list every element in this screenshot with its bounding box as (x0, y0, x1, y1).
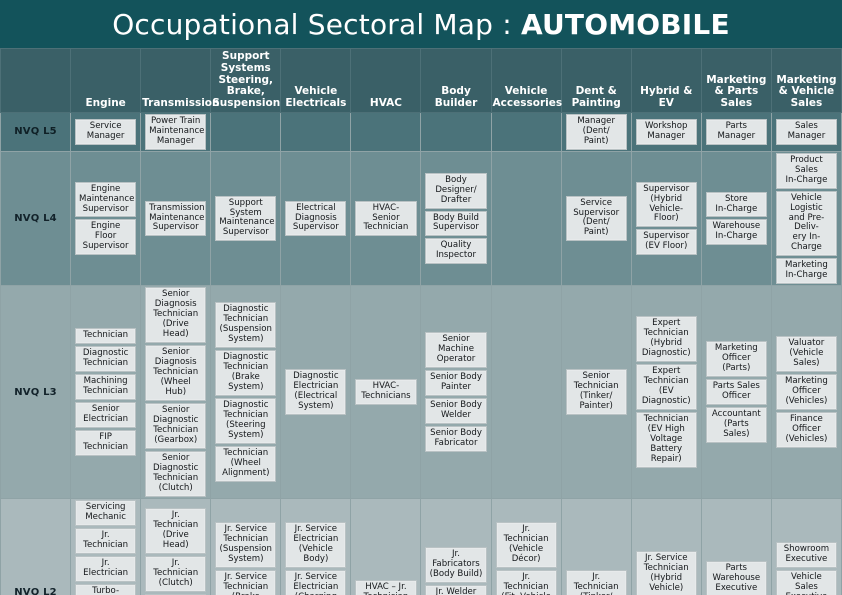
role-stack: Jr. Service Technician (Suspension Syste… (211, 499, 280, 595)
role-chip[interactable]: Diagnostic Technician (Suspension System… (215, 302, 276, 348)
role-stack: Jr. Service Technician (Hybrid Vehicle)J… (632, 499, 701, 595)
role-chip[interactable]: Marketing In-Charge (776, 258, 837, 284)
column-header-vehicle-accessories: Vehicle Accessories (491, 49, 561, 113)
role-stack: Product Sales In-ChargeVehicle Logistic … (772, 152, 841, 286)
role-chip[interactable]: Showroom Executive (776, 542, 837, 568)
cell-nvq-l5-col5 (351, 112, 421, 151)
table-header: EngineTransmissionSupport Systems Steeri… (1, 49, 842, 113)
role-stack: Store In-ChargeWarehouse In-Charge (702, 152, 771, 286)
role-chip[interactable]: Body Designer/ Drafter (425, 173, 486, 209)
role-chip[interactable]: Store In-Charge (706, 192, 767, 218)
cell-nvq-l3-col7 (491, 286, 561, 498)
cell-nvq-l3-col1: TechnicianDiagnostic TechnicianMachining… (71, 286, 141, 498)
cell-nvq-l2-col3: Jr. Service Technician (Suspension Syste… (211, 498, 281, 595)
table-body: NVQ L5Service ManagerPower Train Mainten… (1, 112, 842, 595)
role-chip[interactable]: Service Manager (75, 119, 136, 145)
role-stack: Servicing MechanicJr. TechnicianJr. Elec… (71, 499, 140, 595)
role-chip[interactable]: Finance Officer (Vehicles) (776, 412, 837, 448)
cell-nvq-l3-col9: Expert Technician (Hybrid Diagnostic)Exp… (631, 286, 701, 498)
cell-nvq-l5-col2: Power Train Maintenance Manager (141, 112, 211, 151)
cell-nvq-l5-col8: Manager (Dent/ Paint) (561, 112, 631, 151)
cell-nvq-l4-col6: Body Designer/ DrafterBody Build Supervi… (421, 151, 491, 286)
cell-nvq-l5-col3 (211, 112, 281, 151)
cell-nvq-l4-col8: Service Supervisor (Dent/ Paint) (561, 151, 631, 286)
cell-nvq-l3-col8: Senior Technician (Tinker/ Painter) (561, 286, 631, 498)
role-stack: Senior Technician (Tinker/ Painter) (562, 286, 631, 497)
role-chip[interactable]: Expert Technician (Hybrid Diagnostic) (636, 316, 697, 362)
role-chip[interactable]: Senior Machine Operator (425, 332, 486, 368)
role-chip[interactable]: Power Train Maintenance Manager (145, 114, 206, 150)
page-title-sector: AUTOMOBILE (521, 8, 730, 41)
cell-nvq-l3-col5: HVAC- Technicians (351, 286, 421, 498)
role-stack: Marketing Officer (Parts)Parts Sales Off… (702, 286, 771, 497)
cell-nvq-l4-col3: Support System Maintenance Supervisor (211, 151, 281, 286)
role-chip[interactable]: Engine Maintenance Supervisor (75, 182, 136, 218)
role-chip[interactable]: Jr. Service Electrician (Charging System… (285, 570, 346, 595)
cell-nvq-l3-col6: Senior Machine OperatorSenior Body Paint… (421, 286, 491, 498)
role-stack: Parts Warehouse ExecutiveParts Store Exe… (702, 499, 771, 595)
role-chip[interactable]: Transmission Maintenance Supervisor (145, 201, 206, 237)
role-stack: HVAC- Technicians (351, 286, 420, 497)
role-chip[interactable]: HVAC – Jr. Technician (355, 580, 416, 595)
role-chip[interactable]: Body Build Supervisor (425, 211, 486, 237)
level-label-nvq-l5: NVQ L5 (1, 112, 71, 151)
role-chip[interactable]: Diagnostic Electrician (Electrical Syste… (285, 369, 346, 415)
cell-nvq-l2-col7: Jr. Technician (Vehicle Décor)Jr. Techni… (491, 498, 561, 595)
cell-nvq-l4-col7 (491, 151, 561, 286)
role-stack (281, 113, 350, 151)
level-label-nvq-l3: NVQ L3 (1, 286, 71, 498)
role-chip[interactable]: Accountant (Parts Sales) (706, 407, 767, 443)
cell-nvq-l2-col4: Jr. Service Electrician (Vehicle Body)Jr… (281, 498, 351, 595)
role-chip[interactable]: Jr. Service Technician (Suspension Syste… (215, 522, 276, 568)
role-chip[interactable]: Senior Technician (Tinker/ Painter) (566, 369, 627, 415)
cell-nvq-l4-col10: Store In-ChargeWarehouse In-Charge (701, 151, 771, 286)
level-label-nvq-l2: NVQ L2 (1, 498, 71, 595)
role-chip[interactable]: Warehouse In-Charge (706, 219, 767, 245)
role-chip[interactable]: Supervisor (EV Floor) (636, 229, 697, 255)
cell-nvq-l4-col1: Engine Maintenance SupervisorEngine Floo… (71, 151, 141, 286)
role-chip[interactable]: Jr. Technician (Vehicle Décor) (496, 522, 557, 568)
role-chip[interactable]: Senior Body Painter (425, 370, 486, 396)
table-row: NVQ L2Servicing MechanicJr. TechnicianJr… (1, 498, 842, 595)
role-stack: Jr. Service Electrician (Vehicle Body)Jr… (281, 499, 350, 595)
cell-nvq-l3-col2: Senior Diagnosis Technician (Drive Head)… (141, 286, 211, 498)
role-chip[interactable]: Supervisor (Hybrid Vehicle- Floor) (636, 182, 697, 228)
role-stack (492, 113, 561, 151)
role-stack: Valuator (Vehicle Sales)Marketing Office… (772, 286, 841, 497)
role-chip[interactable]: Jr. Service Technician (Brake System) (215, 570, 276, 595)
role-chip[interactable]: Product Sales In-Charge (776, 153, 837, 189)
cell-nvq-l4-col5: HVAC- Senior Technician (351, 151, 421, 286)
role-chip[interactable]: Jr. Electrician (75, 556, 136, 582)
role-stack (351, 113, 420, 151)
role-stack: Workshop Manager (632, 113, 701, 151)
role-stack: Senior Diagnosis Technician (Drive Head)… (141, 286, 210, 497)
role-chip[interactable]: Engine Floor Supervisor (75, 219, 136, 255)
column-header-marketing-parts-sales: Marketing & Parts Sales (701, 49, 771, 113)
cell-nvq-l5-col7 (491, 112, 561, 151)
role-stack (492, 286, 561, 497)
role-chip[interactable]: Jr. Service Technician (Hybrid Vehicle) (636, 551, 697, 595)
role-chip[interactable]: Parts Manager (706, 119, 767, 145)
role-chip[interactable]: Senior Body Fabricator (425, 426, 486, 452)
cell-nvq-l2-col5: HVAC – Jr. Technician (351, 498, 421, 595)
role-chip[interactable]: Jr. Technician (Drive Head) (145, 508, 206, 554)
role-chip[interactable]: Expert Technician (EV Diagnostic) (636, 364, 697, 410)
cell-nvq-l3-col10: Marketing Officer (Parts)Parts Sales Off… (701, 286, 771, 498)
role-chip[interactable]: Servicing Mechanic (75, 500, 136, 526)
role-chip[interactable]: Technician (EV High Voltage Battery Repa… (636, 412, 697, 468)
role-chip[interactable]: Senior Diagnosis Technician (Wheel Hub) (145, 345, 206, 401)
role-stack: Power Train Maintenance Manager (141, 113, 210, 151)
role-chip[interactable]: Sales Manager (776, 119, 837, 145)
role-chip[interactable]: Marketing Officer (Vehicles) (776, 374, 837, 410)
role-chip[interactable]: Senior Diagnosis Technician (Drive Head) (145, 287, 206, 343)
role-chip[interactable]: Parts Warehouse Executive (706, 561, 767, 595)
role-stack: Diagnostic Electrician (Electrical Syste… (281, 286, 350, 497)
role-stack: Service Manager (71, 113, 140, 151)
role-chip[interactable]: Senior Diagnostic Technician (Clutch) (145, 451, 206, 497)
occupational-map-table: EngineTransmissionSupport Systems Steeri… (0, 48, 842, 595)
level-label-nvq-l4: NVQ L4 (1, 151, 71, 286)
cell-nvq-l2-col2: Jr. Technician (Drive Head)Jr. Technicia… (141, 498, 211, 595)
page-title: Occupational Sectoral Map : AUTOMOBILE (112, 8, 730, 41)
role-chip[interactable]: Jr. Technician (Fit. Vehicle Accessories… (496, 570, 557, 595)
cell-nvq-l2-col6: Jr. Fabricators (Body Build)Jr. Welder (… (421, 498, 491, 595)
role-stack: Expert Technician (Hybrid Diagnostic)Exp… (632, 286, 701, 497)
column-header-transmission: Transmission (141, 49, 211, 113)
role-chip[interactable]: Workshop Manager (636, 119, 697, 145)
page-title-prefix: Occupational Sectoral Map : (112, 8, 521, 41)
role-chip[interactable]: Marketing Officer (Parts) (706, 341, 767, 377)
cell-nvq-l2-col11: Showroom ExecutiveVehicle Sales Executiv… (771, 498, 841, 595)
table-row: NVQ L4Engine Maintenance SupervisorEngin… (1, 151, 842, 286)
role-stack: Electrical Diagnosis Supervisor (281, 152, 350, 286)
role-chip[interactable]: Parts Sales Officer (706, 379, 767, 405)
role-stack: Jr. Technician (Tinker/ Painter) (562, 499, 631, 595)
role-stack (421, 113, 490, 151)
role-chip[interactable]: Senior Diagnostic Technician (Gearbox) (145, 403, 206, 449)
cell-nvq-l4-col2: Transmission Maintenance Supervisor (141, 151, 211, 286)
cell-nvq-l5-col9: Workshop Manager (631, 112, 701, 151)
cell-nvq-l4-col4: Electrical Diagnosis Supervisor (281, 151, 351, 286)
role-chip[interactable]: Electrical Diagnosis Supervisor (285, 201, 346, 237)
role-chip[interactable]: Vehicle Sales Executive (776, 570, 837, 595)
title-bar: Occupational Sectoral Map : AUTOMOBILE (0, 0, 842, 48)
role-stack: Jr. Technician (Drive Head)Jr. Technicia… (141, 499, 210, 595)
role-stack: HVAC- Senior Technician (351, 152, 420, 286)
role-stack: Sales Manager (772, 113, 841, 151)
occupational-sectoral-map-page: Occupational Sectoral Map : AUTOMOBILE E… (0, 0, 842, 595)
role-chip[interactable]: FIP Technician (75, 430, 136, 456)
cell-nvq-l3-col4: Diagnostic Electrician (Electrical Syste… (281, 286, 351, 498)
column-header-marketing-vehicle-sales: Marketing & Vehicle Sales (771, 49, 841, 113)
role-stack: Transmission Maintenance Supervisor (141, 152, 210, 286)
role-stack: Body Designer/ DrafterBody Build Supervi… (421, 152, 490, 286)
role-chip[interactable]: Technician (Wheel Alignment) (215, 446, 276, 482)
role-chip[interactable]: Senior Body Welder (425, 398, 486, 424)
column-header-vehicle-electricals: Vehicle Electricals (281, 49, 351, 113)
role-stack: Support System Maintenance Supervisor (211, 152, 280, 286)
cell-nvq-l2-col10: Parts Warehouse ExecutiveParts Store Exe… (701, 498, 771, 595)
column-header-dent-painting: Dent & Painting (561, 49, 631, 113)
column-header-hybrid-ev: Hybrid & EV (631, 49, 701, 113)
role-chip[interactable]: HVAC- Senior Technician (355, 201, 416, 237)
role-chip[interactable]: Jr. Fabricators (Body Build) (425, 547, 486, 583)
role-chip[interactable]: Quality Inspector (425, 238, 486, 264)
role-stack: Showroom ExecutiveVehicle Sales Executiv… (772, 499, 841, 595)
role-stack: HVAC – Jr. Technician (351, 499, 420, 595)
role-chip[interactable]: Technician (75, 328, 136, 344)
role-stack (492, 152, 561, 286)
header-corner-cell (1, 49, 71, 113)
cell-nvq-l5-col1: Service Manager (71, 112, 141, 151)
role-stack: Service Supervisor (Dent/ Paint) (562, 152, 631, 286)
role-chip[interactable]: Vehicle Logistic and Pre-Deliv- ery In-C… (776, 191, 837, 257)
role-chip[interactable]: Support System Maintenance Supervisor (215, 196, 276, 242)
cell-nvq-l4-col11: Product Sales In-ChargeVehicle Logistic … (771, 151, 841, 286)
role-chip[interactable]: Diagnostic Technician (75, 346, 136, 372)
role-chip[interactable]: Jr. Service Electrician (Vehicle Body) (285, 522, 346, 568)
role-chip[interactable]: Machining Technician (75, 374, 136, 400)
column-header-engine: Engine (71, 49, 141, 113)
role-stack: Jr. Technician (Vehicle Décor)Jr. Techni… (492, 499, 561, 595)
role-stack (211, 113, 280, 151)
cell-nvq-l4-col9: Supervisor (Hybrid Vehicle- Floor)Superv… (631, 151, 701, 286)
cell-nvq-l3-col11: Valuator (Vehicle Sales)Marketing Office… (771, 286, 841, 498)
role-stack: Diagnostic Technician (Suspension System… (211, 286, 280, 497)
role-stack: Manager (Dent/ Paint) (562, 113, 631, 151)
cell-nvq-l2-col1: Servicing MechanicJr. TechnicianJr. Elec… (71, 498, 141, 595)
role-chip[interactable]: Jr. Technician (Tinker/ Painter) (566, 570, 627, 595)
role-chip[interactable]: Service Supervisor (Dent/ Paint) (566, 196, 627, 242)
role-stack: TechnicianDiagnostic TechnicianMachining… (71, 286, 140, 497)
role-stack: Engine Maintenance SupervisorEngine Floo… (71, 152, 140, 286)
role-chip[interactable]: Manager (Dent/ Paint) (566, 114, 627, 150)
role-chip[interactable]: Turbo-Charger Technician (75, 584, 136, 595)
role-stack: Jr. Fabricators (Body Build)Jr. Welder (… (421, 499, 490, 595)
role-chip[interactable]: Diagnostic Technician (Steering System) (215, 398, 276, 444)
table-row: NVQ L5Service ManagerPower Train Mainten… (1, 112, 842, 151)
role-chip[interactable]: HVAC- Technicians (355, 379, 416, 405)
role-chip[interactable]: Senior Electrician (75, 402, 136, 428)
table-row: NVQ L3TechnicianDiagnostic TechnicianMac… (1, 286, 842, 498)
role-chip[interactable]: Jr. Technician (Clutch) (145, 556, 206, 592)
cell-nvq-l5-col11: Sales Manager (771, 112, 841, 151)
role-chip[interactable]: Jr. Welder (Body Build) (425, 585, 486, 595)
column-header-body-builder: Body Builder (421, 49, 491, 113)
role-chip[interactable]: Diagnostic Technician (Brake System) (215, 350, 276, 396)
column-header-row: EngineTransmissionSupport Systems Steeri… (1, 49, 842, 113)
column-header-support-systems-steering-brake-suspension: Support Systems Steering, Brake, Suspens… (211, 49, 281, 113)
cell-nvq-l5-col6 (421, 112, 491, 151)
role-stack: Senior Machine OperatorSenior Body Paint… (421, 286, 490, 497)
role-chip[interactable]: Valuator (Vehicle Sales) (776, 336, 837, 372)
cell-nvq-l5-col4 (281, 112, 351, 151)
cell-nvq-l3-col3: Diagnostic Technician (Suspension System… (211, 286, 281, 498)
column-header-hvac: HVAC (351, 49, 421, 113)
role-stack: Parts Manager (702, 113, 771, 151)
role-stack: Supervisor (Hybrid Vehicle- Floor)Superv… (632, 152, 701, 286)
cell-nvq-l2-col9: Jr. Service Technician (Hybrid Vehicle)J… (631, 498, 701, 595)
cell-nvq-l5-col10: Parts Manager (701, 112, 771, 151)
role-chip[interactable]: Jr. Technician (75, 528, 136, 554)
cell-nvq-l2-col8: Jr. Technician (Tinker/ Painter) (561, 498, 631, 595)
